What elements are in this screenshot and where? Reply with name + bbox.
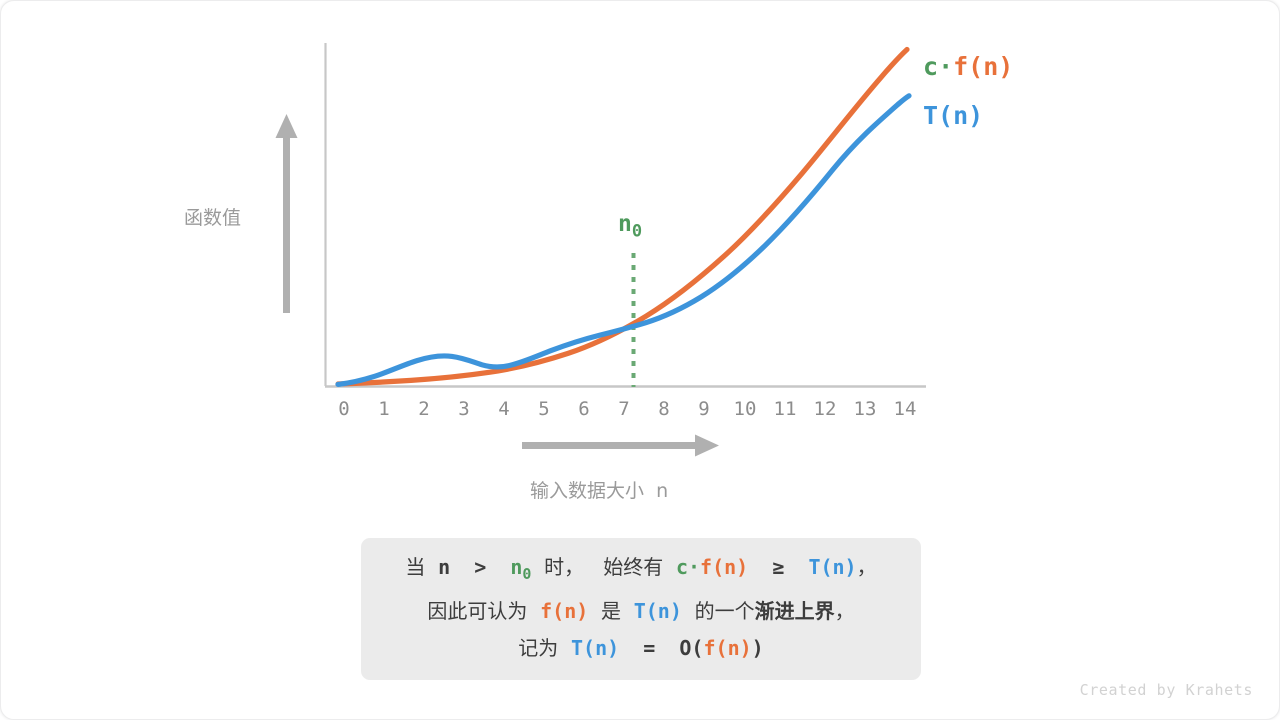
cap2-bold-term: 渐进上界: [755, 599, 835, 623]
caption-line-2: 因此可认为 f(n) 是 T(n) 的一个渐进上界，: [427, 593, 854, 630]
series-label-dot: ·: [938, 52, 953, 81]
series-label-c-f-n: c·f(n): [923, 52, 1013, 81]
x-tick-labels: 0 1 2 3 4 5 6 7 8 9 10 11 12 13 14: [338, 398, 916, 420]
cap2-p1: 因此可认为: [427, 599, 540, 623]
n0-base: n: [618, 211, 632, 237]
cap2-tn: T(n): [634, 599, 682, 623]
series-label-t-n: T(n): [923, 101, 983, 130]
cap3-tn: T(n): [571, 636, 619, 660]
x-tick-11: 11: [774, 398, 797, 420]
cap1-ge: ≥: [748, 555, 808, 579]
x-tick-9: 9: [698, 398, 709, 420]
cap1-dot: ·: [688, 555, 700, 579]
cap1-c: c: [676, 555, 688, 579]
figure-canvas: 0 1 2 3 4 5 6 7 8 9 10 11 12 13 14 函数值 输…: [0, 0, 1280, 720]
cap1-n: n: [438, 555, 450, 579]
x-tick-8: 8: [658, 398, 669, 420]
y-axis-direction-arrow: [276, 114, 298, 313]
series-label-c: c: [923, 52, 938, 81]
x-axis-label: 输入数据大小 n: [530, 476, 668, 503]
cap3-eq: =: [619, 636, 679, 660]
cap1-fn: f(n): [700, 555, 748, 579]
x-tick-12: 12: [814, 398, 837, 420]
cap3-close: ): [752, 636, 764, 660]
cap1-p3: 时， 始终有: [531, 555, 676, 579]
cap3-p1: 记为: [518, 636, 571, 660]
series-label-fn: f(n): [953, 52, 1013, 81]
cap3-big-o: O(: [679, 636, 703, 660]
watermark-credit: Created by Krahets: [1080, 681, 1253, 699]
y-axis-label: 函数值: [184, 203, 241, 230]
cap2-fn: f(n): [540, 599, 588, 623]
x-tick-5: 5: [538, 398, 549, 420]
cap1-tn: T(n): [808, 555, 856, 579]
caption-line-1: 当 n > n0 时， 始终有 c·f(n) ≥ T(n)，: [405, 549, 876, 593]
n0-subscript: 0: [632, 222, 642, 242]
cap1-n0: n: [510, 555, 522, 579]
caption-line-3: 记为 T(n) = O(f(n)): [518, 630, 763, 667]
caption-box: 当 n > n0 时， 始终有 c·f(n) ≥ T(n)， 因此可认为 f(n…: [361, 538, 921, 680]
cap2-p4: ，: [835, 599, 855, 623]
cap1-gt: >: [450, 555, 510, 579]
x-tick-13: 13: [854, 398, 877, 420]
x-tick-4: 4: [498, 398, 509, 420]
x-tick-1: 1: [378, 398, 389, 420]
cap2-p2: 是: [588, 599, 633, 623]
n0-marker-label: n0: [618, 211, 642, 242]
cap2-p3: 的一个: [682, 599, 755, 623]
x-tick-2: 2: [418, 398, 429, 420]
x-axis-direction-arrow: [522, 435, 719, 457]
x-tick-14: 14: [894, 398, 917, 420]
x-tick-0: 0: [338, 398, 349, 420]
x-tick-3: 3: [458, 398, 469, 420]
series-label-tn-text: T(n): [923, 101, 983, 130]
x-tick-7: 7: [618, 398, 629, 420]
cap3-fn: f(n): [703, 636, 751, 660]
cap1-p1: 当: [405, 555, 438, 579]
x-tick-10: 10: [734, 398, 757, 420]
x-tick-6: 6: [578, 398, 589, 420]
cap1-p4: ，: [857, 555, 877, 579]
